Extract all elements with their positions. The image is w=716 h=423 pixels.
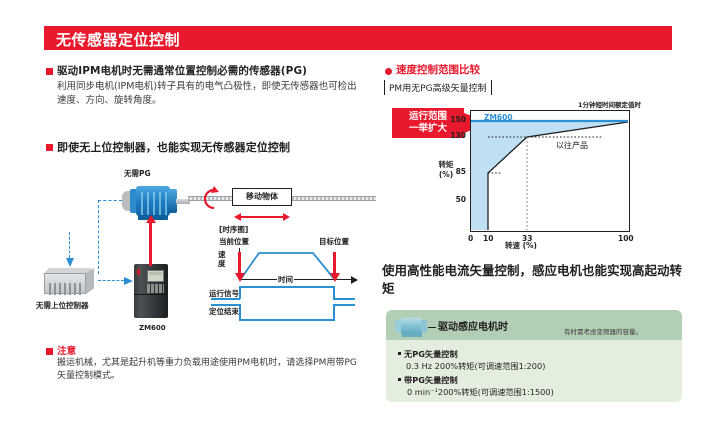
list-item: 带PG矢量控制 0 min⁻¹200%转矩(可调速范围1:1500) bbox=[404, 374, 554, 398]
y-tick-150: 150 bbox=[448, 115, 466, 124]
right-heading-2: 使用高性能电流矢量控制，感应电机也能实现高起动转矩 bbox=[382, 262, 682, 298]
note-marker-icon bbox=[46, 348, 53, 355]
series-label-zm600: ZM600 bbox=[484, 113, 513, 122]
section-dot-icon bbox=[385, 68, 392, 75]
page-title: 无传感器定位控制 bbox=[56, 29, 180, 50]
induction-motor-icon bbox=[392, 315, 430, 337]
end-marker-arrow-icon bbox=[330, 273, 340, 282]
bullet-1-body: 利用同步电机(IPM电机)转子具有的电气凸极性，即使无传感器也可检出速度、方向、… bbox=[57, 80, 357, 107]
timing-chart: [时序图] 当前位置 目标位置 速度 时间 运行信号 bbox=[211, 226, 381, 334]
signal-line-horizontal bbox=[98, 200, 122, 201]
y-tick-50: 50 bbox=[448, 195, 466, 204]
note-title: 注意 bbox=[57, 343, 76, 357]
section-header-bar: 无传感器定位控制 bbox=[44, 26, 672, 50]
list-item: 无PG矢量控制 0.3 Hz 200%转矩(可调速范围1:200) bbox=[404, 348, 545, 372]
y-tick-130: 130 bbox=[448, 131, 466, 140]
series-label-legacy: 以往产品 bbox=[556, 140, 588, 151]
motor-body bbox=[136, 186, 170, 216]
list-bullet-icon bbox=[398, 352, 401, 355]
torque-speed-chart: 150 130 85 50 0 10 33 100 bbox=[470, 110, 630, 232]
bullet-marker-icon bbox=[46, 144, 53, 151]
host-controller-illustration bbox=[44, 268, 94, 294]
signal-line-vertical bbox=[98, 200, 99, 274]
movement-direction-arrow-icon bbox=[241, 216, 283, 218]
chart-y-axis-label: 转矩 (%) bbox=[438, 160, 454, 180]
chart-x-axis-label: 转速 (%) bbox=[505, 240, 537, 251]
connector-line bbox=[428, 327, 436, 328]
zm600-operating-region bbox=[471, 111, 629, 231]
panel-title: 驱动感应电机时 bbox=[438, 318, 508, 333]
system-diagram: 无需PG 移动物体 bbox=[36, 160, 381, 380]
motor-label: 无需PG bbox=[124, 168, 151, 179]
speed-axis-label: 速度 bbox=[218, 250, 227, 268]
timing-chart-title: [时序图] bbox=[219, 224, 248, 235]
item-name: 无PG矢量控制 bbox=[404, 349, 458, 359]
bullet-2-title: 即使无上位控制器，也能实现无传感器定位控制 bbox=[57, 139, 290, 155]
bullet-marker-icon bbox=[46, 68, 53, 75]
induction-motor-panel: 驱动感应电机时 有时需考虑变频器的容量。 无PG矢量控制 0.3 Hz 200%… bbox=[386, 310, 682, 402]
right-section-title: 速度控制范围比较 bbox=[396, 62, 480, 77]
chart-top-annotation: 1分钟短时间额定值时 bbox=[578, 99, 641, 109]
item-spec: 0 min⁻¹200%转矩(可调速范围1:1500) bbox=[404, 386, 554, 398]
x-tick-100: 100 bbox=[618, 234, 634, 243]
host-controller-label: 无需上位控制器 bbox=[36, 300, 89, 311]
bullet-1-title: 驱动IPM电机时无需通常位置控制必需的传感器(PG) bbox=[57, 63, 307, 78]
rotation-arrow-icon bbox=[199, 186, 219, 212]
list-bullet-icon bbox=[398, 378, 401, 381]
inverter-cable bbox=[149, 252, 152, 266]
start-marker-arrow-icon bbox=[235, 273, 245, 282]
item-spec: 0.3 Hz 200%转矩(可调速范围1:200) bbox=[404, 360, 545, 372]
brochure-page: 无传感器定位控制 驱动IPM电机时无需通常位置控制必需的传感器(PG) 利用同步… bbox=[0, 0, 716, 423]
position-done-label: 定位结束 bbox=[209, 306, 239, 317]
moving-object-box: 移动物体 bbox=[232, 188, 292, 206]
inverter-label: ZM600 bbox=[139, 324, 166, 332]
note-body: 搬运机械，尤其是起升机等重力负载用途使用PM电机时，请选择PM用带PG矢量控制模… bbox=[57, 357, 357, 383]
dashed-right-arrow-icon bbox=[98, 280, 124, 281]
x-tick-0: 0 bbox=[468, 234, 473, 243]
panel-note: 有时需考虑变频器的容量。 bbox=[564, 326, 642, 336]
item-name: 带PG矢量控制 bbox=[404, 375, 458, 385]
control-mode-label: PM用无PG高级矢量控制 bbox=[384, 80, 492, 95]
dashed-down-arrow-icon bbox=[69, 232, 70, 258]
x-tick-10: 10 bbox=[483, 234, 493, 243]
inverter-illustration bbox=[134, 264, 168, 320]
